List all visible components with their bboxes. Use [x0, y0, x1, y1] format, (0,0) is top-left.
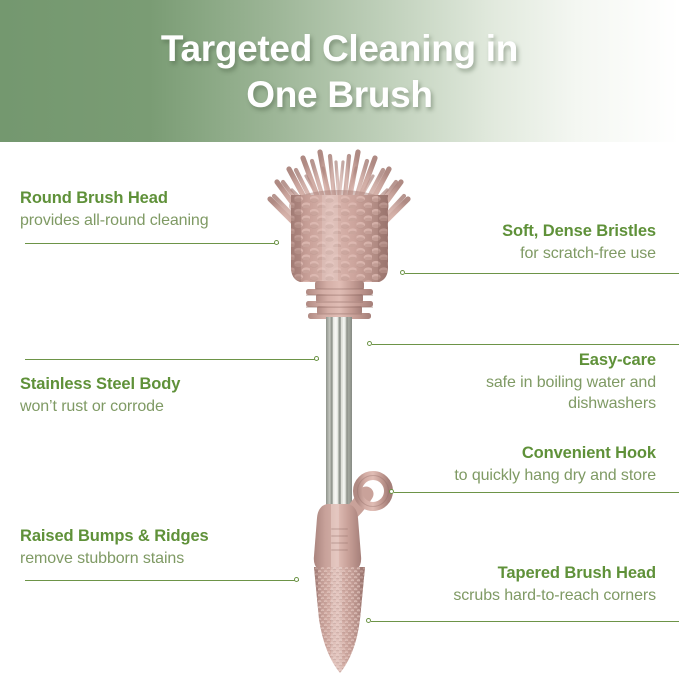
callout-easy-care: Easy-care safe in boiling water and dish… — [486, 350, 656, 415]
callout-title: Tapered Brush Head — [453, 563, 656, 585]
connector-endpoint-dot — [274, 240, 279, 245]
connector-stainless-steel-body — [20, 355, 319, 364]
callout-title: Easy-care — [486, 350, 656, 372]
page-title-line-1: Targeted Cleaning in — [0, 26, 679, 72]
round-brush-head-body — [285, 190, 395, 290]
connector-line — [371, 621, 679, 622]
callout-desc: remove stubborn stains — [20, 548, 209, 569]
connector-easy-care — [367, 340, 679, 349]
callout-convenient-hook: Convenient Hook to quickly hang dry and … — [454, 443, 656, 486]
callout-desc: won’t rust or corrode — [20, 396, 180, 417]
callout-desc-line-2: dishwashers — [486, 393, 656, 414]
callout-desc: to quickly hang dry and store — [454, 465, 656, 486]
page-title-line-2: One Brush — [0, 72, 679, 118]
callout-title: Stainless Steel Body — [20, 374, 180, 396]
connector-endpoint-dot — [314, 356, 319, 361]
round-brush-top-bristles — [270, 150, 408, 228]
callout-title: Round Brush Head — [20, 188, 209, 210]
connector-line — [25, 243, 279, 244]
connector-round-brush-head — [20, 239, 279, 248]
connector-soft-dense-bristles — [400, 269, 679, 278]
tapered-brush-head — [308, 563, 372, 679]
connector-convenient-hook — [389, 488, 679, 497]
callout-title: Raised Bumps & Ridges — [20, 526, 209, 548]
callout-desc: provides all-round cleaning — [20, 210, 209, 231]
connector-endpoint-dot — [400, 270, 405, 275]
stainless-steel-rod — [326, 317, 352, 513]
connector-line — [25, 359, 319, 360]
callout-round-brush-head: Round Brush Head provides all-round clea… — [20, 188, 209, 231]
connector-tapered-brush-head — [366, 617, 679, 626]
ridged-collar — [306, 281, 373, 319]
header-banner: Targeted Cleaning in One Brush — [0, 0, 679, 142]
callout-desc: scrubs hard-to-reach corners — [453, 585, 656, 606]
connector-endpoint-dot — [294, 577, 299, 582]
callout-desc: for scratch-free use — [502, 243, 656, 264]
connector-line — [405, 273, 679, 274]
callout-raised-bumps-ridges: Raised Bumps & Ridges remove stubborn st… — [20, 526, 209, 569]
callout-title: Soft, Dense Bristles — [502, 221, 656, 243]
callout-desc-line-1: safe in boiling water and — [486, 372, 656, 393]
page-title: Targeted Cleaning in One Brush — [0, 26, 679, 118]
grip-handle — [314, 504, 361, 582]
connector-line — [394, 492, 679, 493]
hook-ring — [352, 476, 389, 513]
connector-line — [25, 580, 299, 581]
callout-title: Convenient Hook — [454, 443, 656, 465]
connector-line — [372, 344, 679, 345]
connector-raised-bumps-ridges — [20, 576, 299, 585]
callout-soft-dense-bristles: Soft, Dense Bristles for scratch-free us… — [502, 221, 656, 264]
callout-tapered-brush-head: Tapered Brush Head scrubs hard-to-reach … — [453, 563, 656, 606]
connector-endpoint-dot — [389, 489, 394, 494]
connector-endpoint-dot — [367, 341, 372, 346]
connector-endpoint-dot — [366, 618, 371, 623]
callout-stainless-steel-body: Stainless Steel Body won’t rust or corro… — [20, 374, 180, 417]
